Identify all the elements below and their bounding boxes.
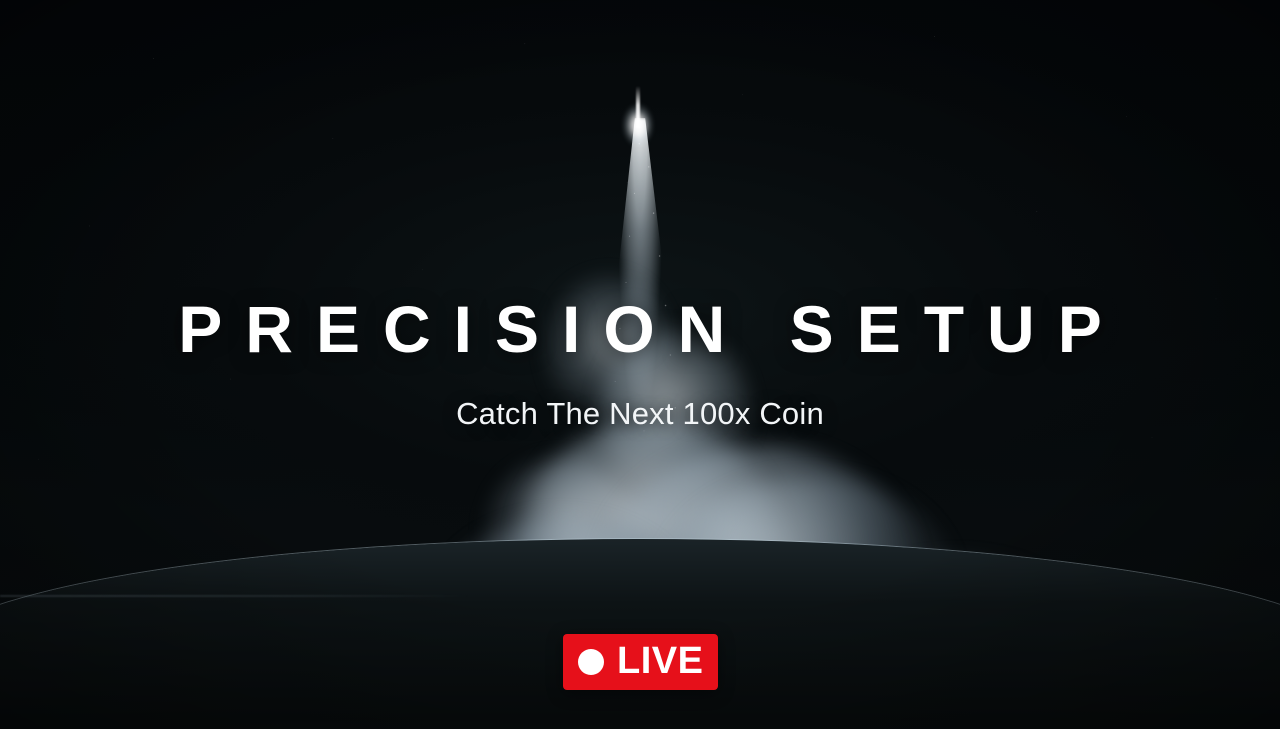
page-title: PRECISION SETUP — [0, 296, 1280, 362]
thumbnail-canvas: PRECISION SETUP Catch The Next 100x Coin… — [0, 0, 1280, 729]
rocket-launch-icon — [636, 86, 640, 128]
live-record-dot-icon — [578, 649, 604, 675]
page-subtitle: Catch The Next 100x Coin — [0, 397, 1280, 431]
status-badge-label: LIVE — [617, 642, 703, 683]
ground-line — [0, 595, 470, 597]
status-badge[interactable]: LIVE — [563, 634, 718, 690]
